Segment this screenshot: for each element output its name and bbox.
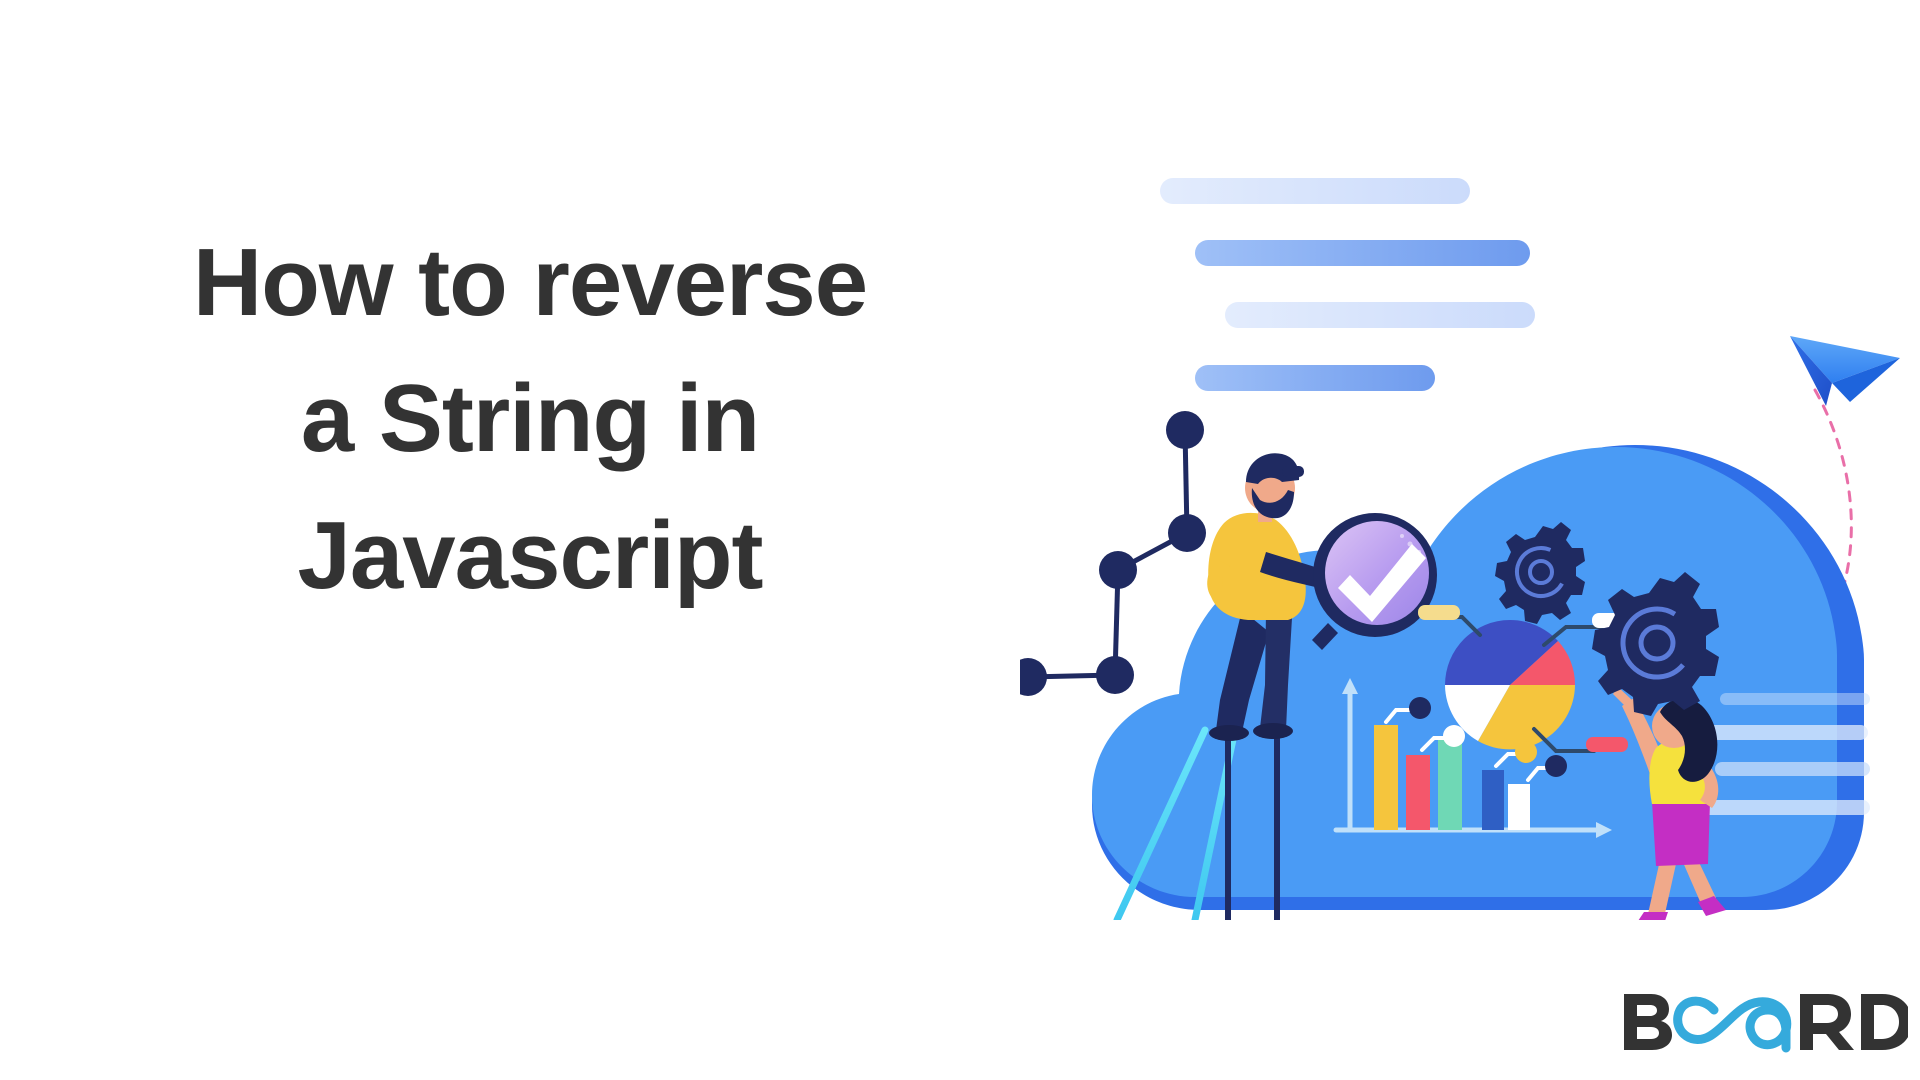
pie-label-chip-1 xyxy=(1418,605,1460,620)
title-block: How to reverse a String in Javascript xyxy=(0,215,1060,624)
brand-logo[interactable] xyxy=(1618,988,1908,1054)
text-line-bar-2 xyxy=(1195,240,1530,266)
logo-letter-d xyxy=(1861,994,1908,1050)
bar-5 xyxy=(1508,784,1530,830)
bar-4 xyxy=(1482,770,1504,830)
node-network-graph xyxy=(1020,411,1206,696)
logo-letter-b xyxy=(1624,994,1672,1050)
text-line-bar-1 xyxy=(1160,178,1470,204)
text-line-bar-4 xyxy=(1195,365,1435,391)
logo-letter-r xyxy=(1800,994,1854,1050)
page-title: How to reverse a String in Javascript xyxy=(0,215,1060,624)
pie-label-chip-3 xyxy=(1586,737,1628,752)
blog-banner: How to reverse a String in Javascript xyxy=(0,0,1920,1080)
cloud-analytics-illustration xyxy=(1020,140,1920,920)
text-line-bar-3 xyxy=(1225,302,1535,328)
bar-3 xyxy=(1438,740,1462,830)
logo-infinity-oa xyxy=(1678,1001,1787,1048)
bar-1 xyxy=(1374,725,1398,830)
text-line-bars xyxy=(1160,178,1535,391)
bar-2 xyxy=(1406,755,1430,830)
paper-plane xyxy=(1790,336,1900,406)
